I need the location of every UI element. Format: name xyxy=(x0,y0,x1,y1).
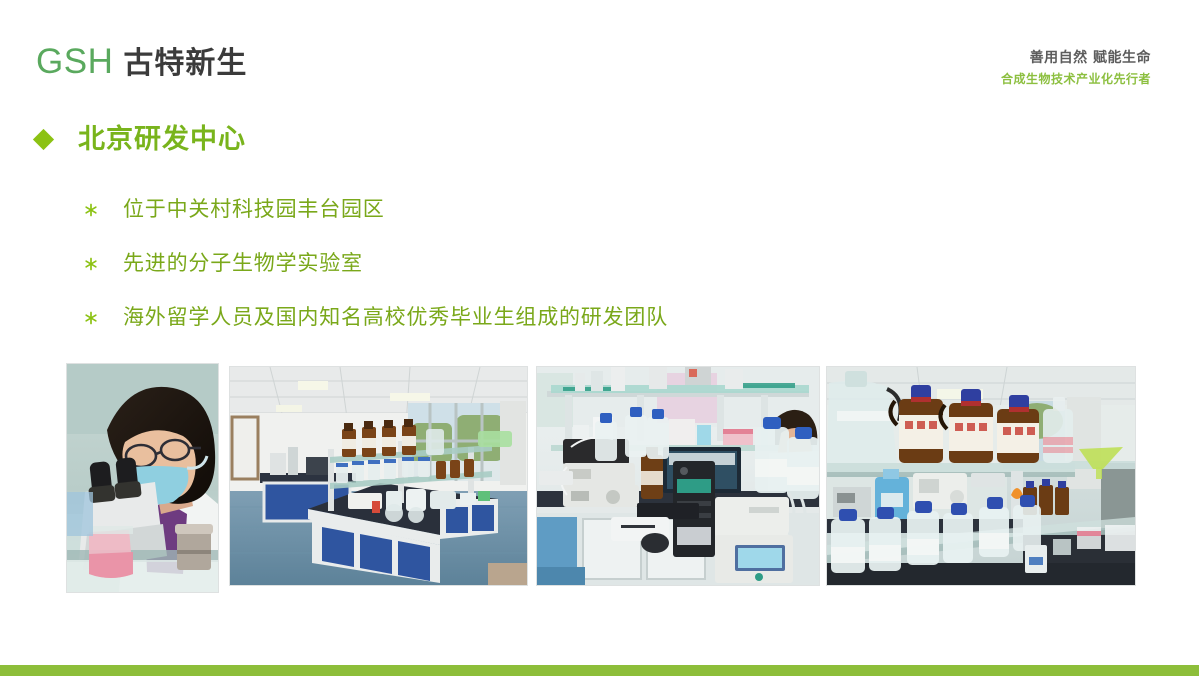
logo-wordmark-text: 古特新生 xyxy=(123,49,247,79)
photo-researcher-microscope xyxy=(67,364,218,592)
company-logo: GSH 古特新生 xyxy=(36,44,247,79)
list-item-label: 位于中关村科技园丰台园区 xyxy=(123,199,385,220)
tagline-secondary-text: 合成生物技术产业化先行者 xyxy=(1001,71,1151,88)
list-item: 海外留学人员及国内知名高校优秀毕业生组成的研发团队 xyxy=(84,290,1124,344)
photo-laboratory-room xyxy=(230,367,527,585)
footer-accent-bar xyxy=(0,665,1199,676)
list-item-label: 先进的分子生物学实验室 xyxy=(123,253,363,274)
logo-mark-text: GSH xyxy=(36,44,113,79)
slide-header: GSH 古特新生 善用自然 赋能生命 合成生物技术产业化先行者 xyxy=(0,0,1199,110)
slide-root: GSH 古特新生 善用自然 赋能生命 合成生物技术产业化先行者 北京研发中心 xyxy=(0,0,1199,676)
header-tagline: 善用自然 赋能生命 合成生物技术产业化先行者 xyxy=(1001,48,1151,89)
asterisk-bullet-icon xyxy=(84,257,98,271)
photo-reagent-shelves xyxy=(827,367,1135,585)
section-heading: 北京研发中心 xyxy=(36,126,246,153)
tagline-primary-text: 善用自然 赋能生命 xyxy=(1001,48,1151,68)
page-title: 北京研发中心 xyxy=(78,126,246,153)
diamond-bullet-icon xyxy=(33,129,54,150)
asterisk-bullet-icon xyxy=(84,203,98,217)
asterisk-bullet-icon xyxy=(84,311,98,325)
bullet-list: 位于中关村科技园丰台园区 先进的分子生物学实验室 xyxy=(84,182,1124,344)
photo-hplc-instruments xyxy=(537,367,819,585)
list-item-label: 海外留学人员及国内知名高校优秀毕业生组成的研发团队 xyxy=(123,307,668,328)
list-item: 位于中关村科技园丰台园区 xyxy=(84,182,1124,236)
list-item: 先进的分子生物学实验室 xyxy=(84,236,1124,290)
